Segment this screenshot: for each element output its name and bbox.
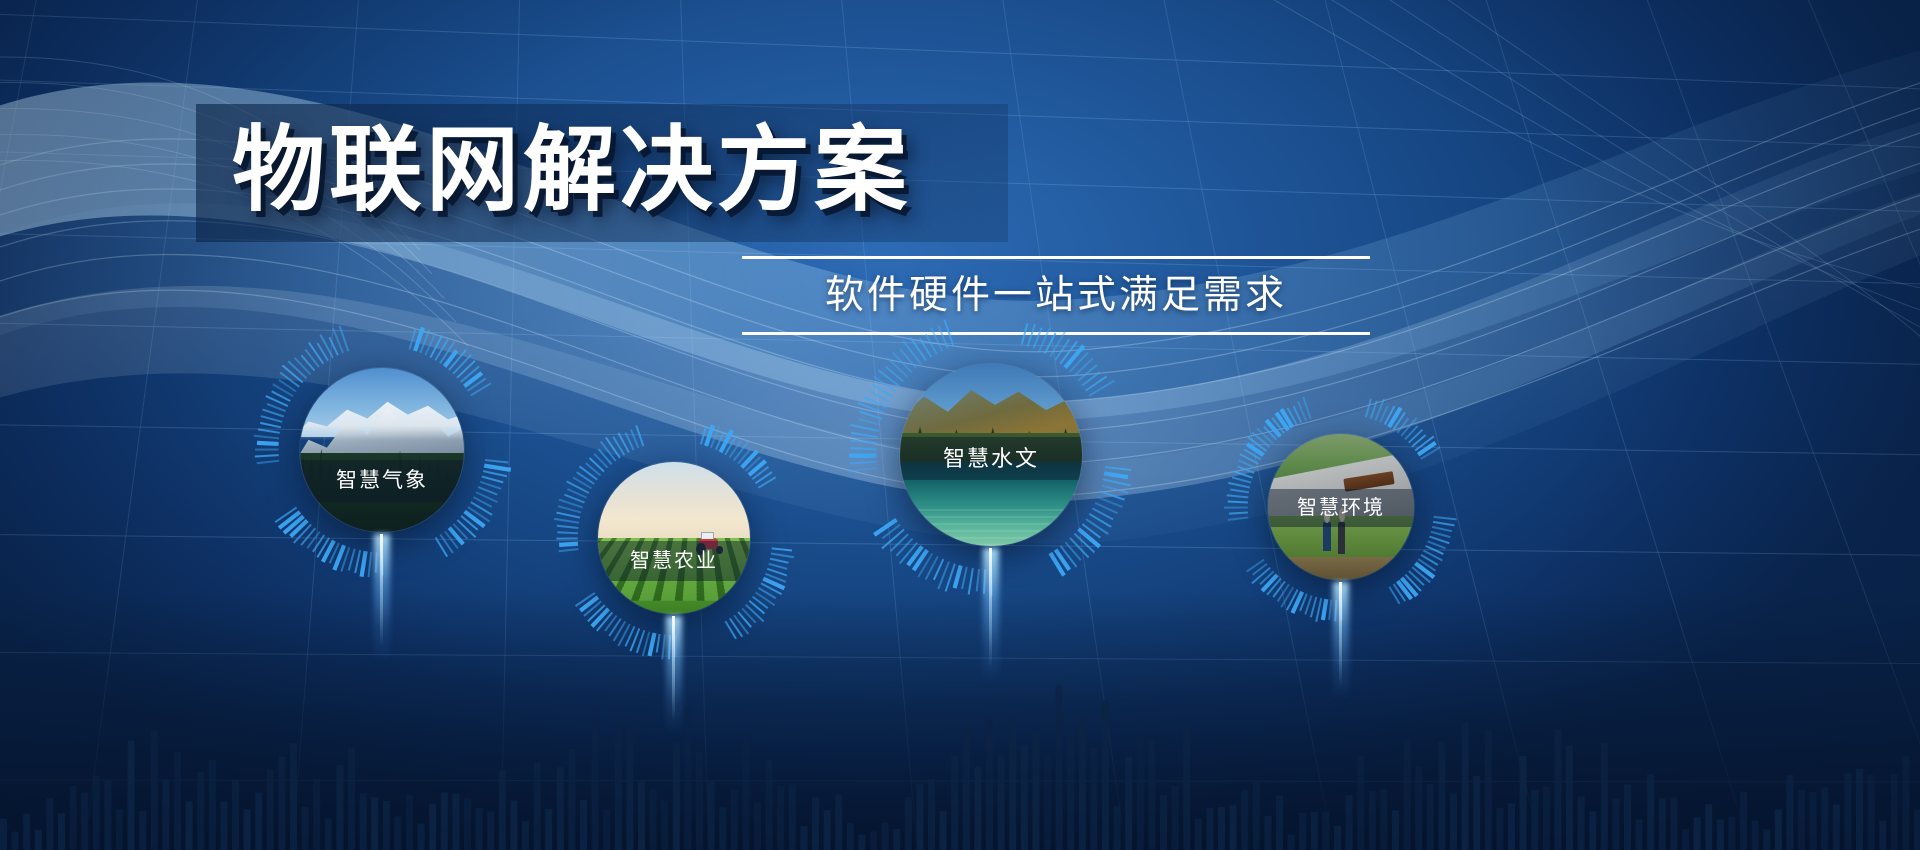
solution-photo-agriculture[interactable]: 智慧农业 (598, 462, 750, 614)
light-beam-core-icon (380, 534, 383, 646)
solution-photo-environment[interactable]: 智慧环境 (1268, 434, 1414, 580)
solution-label-hydrology: 智慧水文 (900, 437, 1082, 481)
banner-stage: 物联网解决方案 软件硬件一站式满足需求 智慧气象 (0, 0, 1920, 850)
solution-photo-hydrology[interactable]: 智慧水文 (900, 364, 1082, 546)
solution-label-meteorology: 智慧气象 (300, 460, 464, 503)
solution-label-agriculture: 智慧农业 (598, 541, 750, 581)
page-title: 物联网解决方案 (232, 118, 911, 222)
solution-photo-meteorology[interactable]: 智慧气象 (300, 368, 464, 532)
audio-waveform-icon (0, 650, 1920, 850)
solution-label-environment: 智慧环境 (1268, 489, 1414, 527)
scene-snow-mountain (300, 368, 464, 532)
subtitle-rule-top (742, 256, 1370, 259)
scene-farm-field (598, 462, 750, 614)
